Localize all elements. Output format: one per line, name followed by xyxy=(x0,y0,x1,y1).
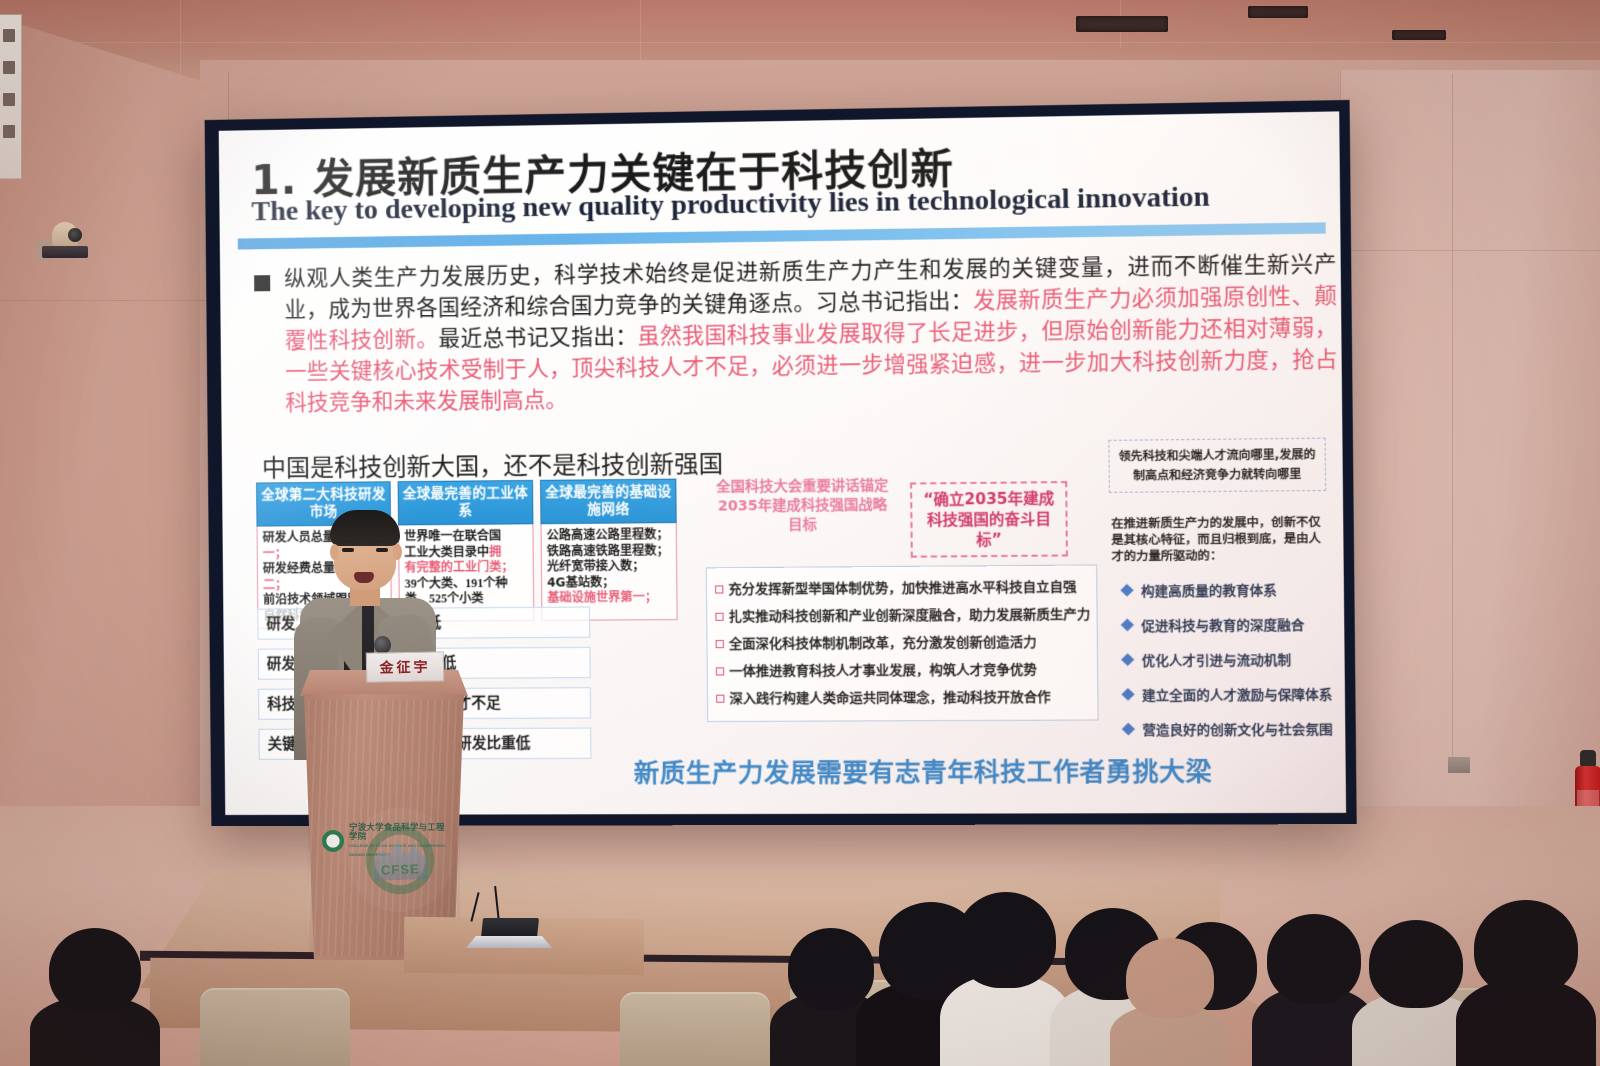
checkbox-icon xyxy=(715,613,723,621)
square-bullet-icon xyxy=(254,275,270,291)
para-black-2: 最近总书记又指出： xyxy=(438,324,637,352)
checklist-label: 充分发挥新型举国体制优势，加快推进高水平科技自立自强 xyxy=(728,579,1076,599)
ptz-camera-icon xyxy=(42,222,88,264)
lecture-hall-scene: 1. 发展新质生产力关键在于科技创新 The key to developing… xyxy=(0,0,1600,1066)
checkbox-icon xyxy=(715,585,723,593)
list-item: 营造良好的创新文化与社会氛围 xyxy=(1123,710,1332,746)
col-line: 铁路高速铁路里程数； xyxy=(547,543,669,558)
diamond-bullet-icon xyxy=(1121,618,1134,631)
slide-bottom-banner: 新质生产力发展需要有志青年科技工作者勇挑大梁 xyxy=(533,751,1317,790)
innovation-lead-in: 在推进新质生产力的发展中，创新不仅是其核心特征，而且归根到底，是由人才的力量所驱… xyxy=(1111,514,1326,565)
list-item-label: 促进科技与教育的深度融合 xyxy=(1141,614,1304,634)
ceiling-light xyxy=(1392,30,1446,40)
audience-member xyxy=(1110,946,1230,1066)
list-item-label: 营造良好的创新文化与社会氛围 xyxy=(1142,718,1332,738)
checkbox-icon xyxy=(716,667,724,675)
checklist-label: 一体推进教育科技人才事业发展，构筑人才竞争优势 xyxy=(729,662,1037,681)
col-line-accent: 拥 xyxy=(489,544,501,558)
slide-body-paragraph: 纵观人类生产力发展历史，科学技术始终是促进新质生产力产生和发展的关键变量，进而不… xyxy=(242,249,1338,420)
list-item: 优化人才引进与流动机制 xyxy=(1123,641,1332,677)
diamond-bullet-icon xyxy=(1121,687,1134,700)
checklist-item: 扎实推动科技创新和产业创新深度融合，助力发展新质生产力 xyxy=(713,601,1088,631)
column-header: 全球最完善的基础设施网络 xyxy=(540,479,677,525)
goal-quote-box: “确立2035年建成科技强国的奋斗目标” xyxy=(910,481,1068,558)
seat xyxy=(200,988,350,1066)
checklist-item: 全面深化科技体制机制改革，充分激发创新创造活力 xyxy=(713,629,1088,659)
measures-checklist: 充分发挥新型举国体制优势，加快推进高水平科技自立自强 扎实推动科技创新和产业创新… xyxy=(706,564,1099,722)
checklist-label: 深入践行构建人类命运共同体理念，推动科技开放合作 xyxy=(729,689,1050,708)
strength-column: 全球最完善的基础设施网络 公路高速公路里程数； 铁路高速铁路里程数； 光纤宽带接… xyxy=(540,479,678,627)
talent-measures-list: 构建高质量的教育体系 促进科技与教育的深度融合 优化人才引进与流动机制 建立全面… xyxy=(1122,571,1333,746)
seat xyxy=(620,992,770,1066)
audience-member xyxy=(1456,886,1596,1066)
diamond-bullet-icon xyxy=(1120,583,1133,596)
wall-right xyxy=(1340,70,1600,860)
checklist-item: 深入践行构建人类命运共同体理念，推动科技开放合作 xyxy=(714,684,1089,713)
col-line: 公路高速公路里程数； xyxy=(547,527,669,542)
list-item: 建立全面的人才激励与保障体系 xyxy=(1123,675,1332,711)
title-divider-bar xyxy=(238,222,1326,249)
list-item: 促进科技与教育的深度融合 xyxy=(1122,606,1331,642)
col-line-accent: 基础设施世界第一； xyxy=(547,590,657,605)
ceiling-light xyxy=(1076,16,1168,32)
audience-area xyxy=(0,816,1600,1066)
list-item-label: 建立全面的人才激励与保障体系 xyxy=(1142,683,1332,703)
col-line: 光纤宽带接入数； xyxy=(547,559,645,574)
list-item-label: 优化人才引进与流动机制 xyxy=(1142,649,1292,669)
speaker-nameplate: 金征宇 xyxy=(366,651,445,682)
checkbox-icon xyxy=(716,695,724,703)
list-item-label: 构建高质量的教育体系 xyxy=(1141,579,1277,599)
checklist-label: 全面深化科技体制机制改革，充分激发创新创造活力 xyxy=(729,634,1037,653)
checklist-item: 充分发挥新型举国体制优势，加快推进高水平科技自立自强 xyxy=(713,574,1088,604)
checklist-item: 一体推进教育科技人才事业发展，构筑人才竞争优势 xyxy=(714,656,1089,685)
audience-member xyxy=(30,936,160,1066)
slide-subtitle: 中国是科技创新大国，还不是科技创新强国 xyxy=(262,444,724,484)
wall-notice-sign xyxy=(0,14,22,179)
diamond-bullet-icon xyxy=(1121,653,1134,666)
ceiling-light xyxy=(1248,6,1308,18)
wall-outlet-plate xyxy=(1448,757,1470,773)
diamond-bullet-icon xyxy=(1122,722,1135,735)
col-line: 4G基站数； xyxy=(547,575,614,590)
checkbox-icon xyxy=(716,640,724,648)
conference-headline: 全国科技大会重要讲话锚定2035年建成科技强国战略目标 xyxy=(711,477,894,536)
talent-flow-note: 领先科技和尖端人才流向哪里,发展的制高点和经济竞争力就转向哪里 xyxy=(1108,438,1326,493)
list-item: 构建高质量的教育体系 xyxy=(1122,571,1331,607)
checklist-label: 扎实推动科技创新和产业创新深度融合，助力发展新质生产力 xyxy=(729,606,1091,626)
